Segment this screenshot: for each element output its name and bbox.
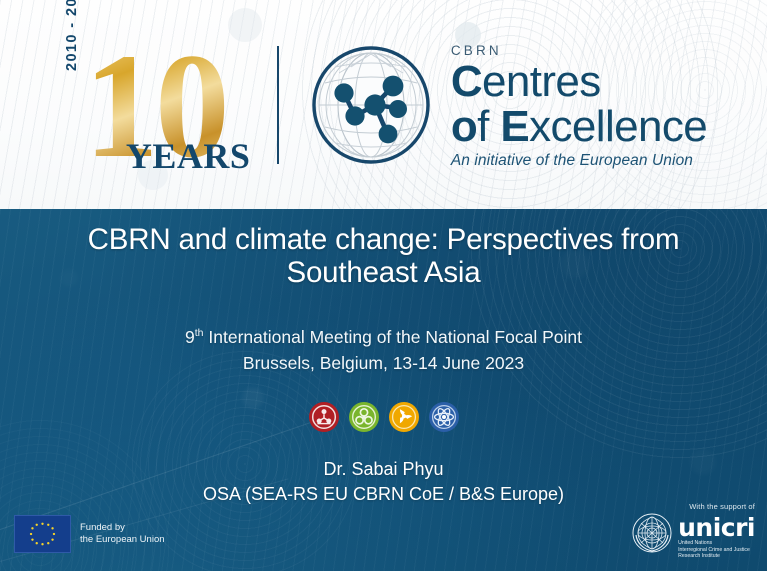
anniversary-years-word: YEARS — [126, 135, 251, 177]
slide-title: CBRN and climate change: Perspectives fr… — [0, 223, 767, 289]
subtitle-ordinal-suffix: th — [195, 327, 204, 339]
wordmark-kicker: CBRN — [451, 43, 707, 58]
eu-funding-footer: Funded by the European Union — [14, 515, 165, 553]
anniversary-logo: 2010 - 2020 10 YEARS — [60, 37, 265, 172]
nuclear-atom-icon — [429, 402, 459, 432]
unicri-subtitle-line-2: Interregional Crime and Justice — [678, 547, 755, 553]
wordmark-line2-initial-e: E — [500, 102, 529, 151]
wordmark-line-2: of Excellence — [451, 104, 707, 149]
unicri-wordmark: unicri — [678, 517, 755, 538]
coe-wordmark: CBRN Centres of Excellence An initiative… — [451, 43, 707, 170]
wordmark-line2-initial-o: o — [451, 102, 477, 151]
eu-funding-line-2: the European Union — [80, 534, 165, 546]
logo-divider — [277, 46, 279, 164]
presenter-name: Dr. Sabai Phyu — [0, 457, 767, 482]
slide-body: CBRN and climate change: Perspectives fr… — [0, 209, 767, 571]
subtitle-meeting-text: International Meeting of the National Fo… — [204, 327, 582, 347]
presentation-slide: 2010 - 2020 10 YEARS — [0, 0, 767, 571]
european-union-flag-icon — [14, 515, 71, 553]
slide-header-band: 2010 - 2020 10 YEARS — [0, 0, 767, 209]
subtitle-ordinal-number: 9 — [185, 327, 195, 347]
unicri-support-footer: With the support of — [632, 502, 755, 559]
wordmark-line-1: Centres — [451, 59, 707, 104]
unicri-subtitle-line-3: Research Institute — [678, 553, 755, 559]
wordmark-line2-f: f — [477, 102, 500, 151]
chemical-hazard-icon — [309, 402, 339, 432]
wordmark-line1-rest: entres — [482, 57, 601, 106]
eu-funding-line-1: Funded by — [80, 522, 165, 534]
anniversary-years-range: 2010 - 2020 — [64, 0, 80, 71]
subtitle-line-2: Brussels, Belgium, 13-14 June 2023 — [0, 350, 767, 376]
unicri-support-text: With the support of — [632, 502, 755, 511]
cbrn-globe-network-icon — [309, 43, 433, 167]
radiological-trefoil-icon — [389, 402, 419, 432]
slide-subtitle: 9th International Meeting of the Nationa… — [0, 320, 767, 376]
subtitle-line-1: 9th International Meeting of the Nationa… — [0, 320, 767, 350]
presenter-block: Dr. Sabai Phyu OSA (SEA-RS EU CBRN CoE /… — [0, 457, 767, 507]
united-nations-emblem-icon — [632, 513, 672, 553]
wordmark-line1-initial: C — [451, 57, 482, 106]
cbrn-hazard-icon-row — [0, 402, 767, 432]
wordmark-tagline: An initiative of the European Union — [451, 152, 707, 170]
biohazard-icon — [349, 402, 379, 432]
eu-funding-text: Funded by the European Union — [80, 522, 165, 546]
wordmark-line2-rest: xcellence — [529, 102, 707, 151]
